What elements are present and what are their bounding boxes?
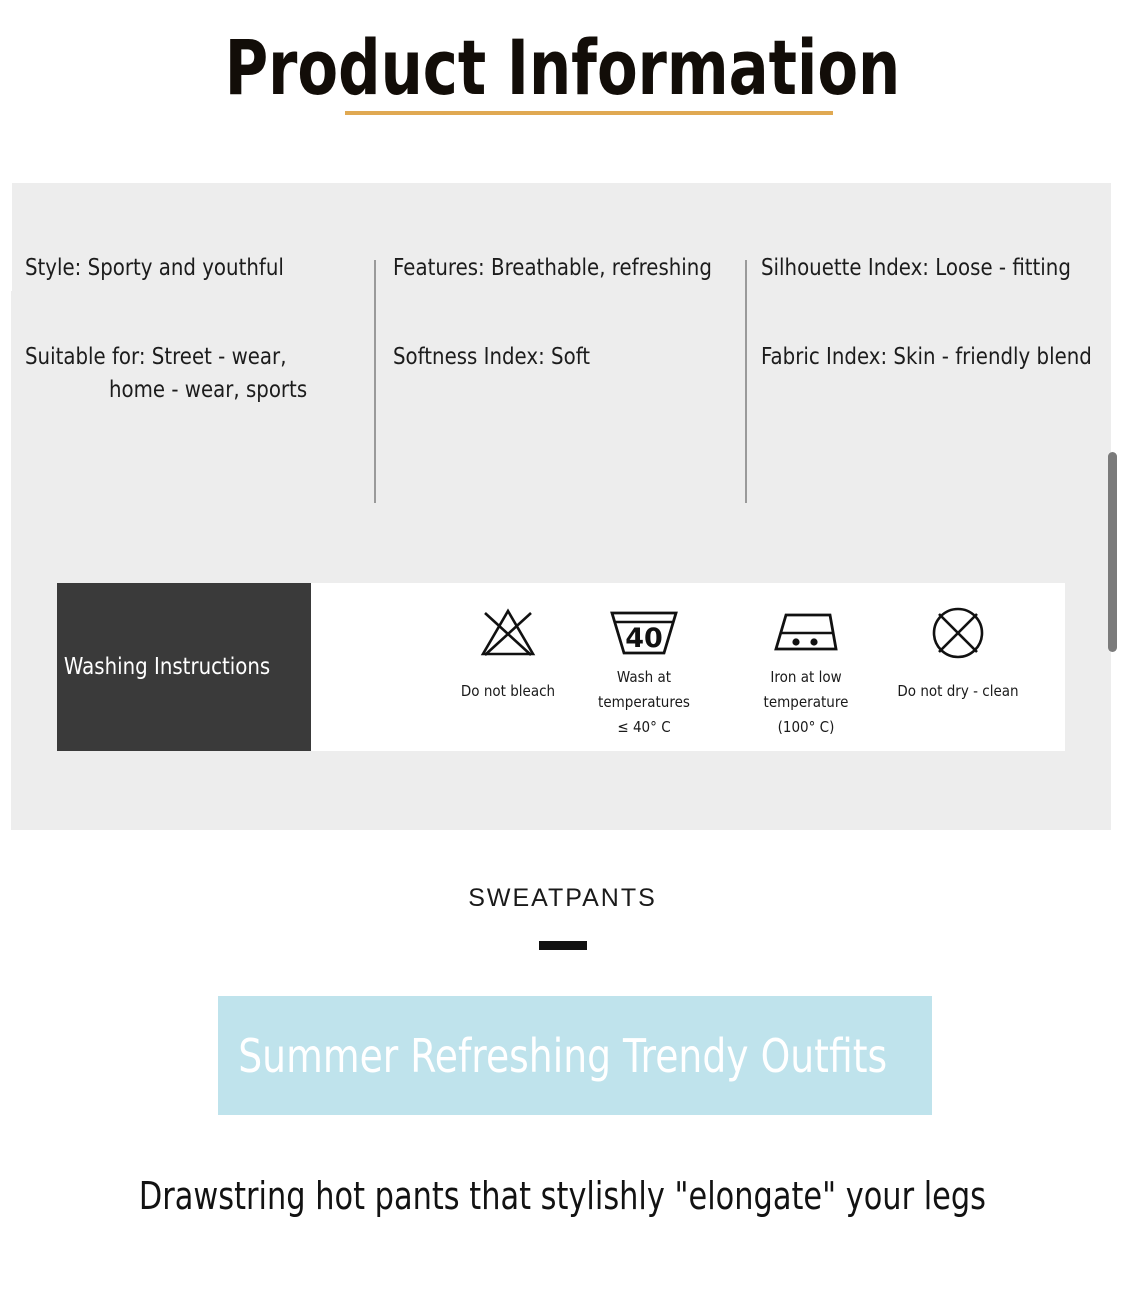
spec-column-1: Style: Sporty and youthful Suitable for:… xyxy=(25,253,370,406)
title-underline-rule xyxy=(345,111,833,115)
spec-suitable-for: Suitable for: Street - wear, xyxy=(25,342,322,372)
spec-features: Features: Breathable, refreshing xyxy=(393,253,698,283)
promo-tagline-wrap: Drawstring hot pants that stylishly "elo… xyxy=(0,1172,1125,1220)
page-title: Product Information xyxy=(124,24,1002,112)
care-symbols-row: Do not bleach 40 Wash at temperatu xyxy=(311,583,1065,751)
spec-grid: Style: Sporty and youthful Suitable for:… xyxy=(11,183,1111,583)
washing-instructions-card: Washing Instructions Do not bleach xyxy=(57,583,1065,751)
category-underline-dash xyxy=(539,941,587,950)
spec-divider-2 xyxy=(745,260,747,503)
promo-banner-background xyxy=(218,996,932,1115)
spec-silhouette-index: Silhouette Index: Loose - fitting xyxy=(761,253,1071,283)
panel-left-notch xyxy=(0,183,12,291)
product-information-page: Product Information Style: Sporty and yo… xyxy=(0,0,1125,1314)
product-category-label: SWEATPANTS xyxy=(0,884,1125,913)
spec-style: Style: Sporty and youthful xyxy=(25,253,322,283)
spec-column-2: Features: Breathable, refreshing Softnes… xyxy=(393,253,748,372)
washing-instructions-label-block: Washing Instructions xyxy=(57,583,311,751)
do-not-dry-clean-captions: Do not dry - clean xyxy=(863,679,1053,704)
page-header: Product Information xyxy=(0,24,1125,112)
promo-tagline: Drawstring hot pants that stylishly "elo… xyxy=(139,1172,986,1220)
vertical-scrollbar-track[interactable] xyxy=(1106,183,1118,830)
do-not-dry-clean-icon xyxy=(863,605,1053,665)
svg-text:40: 40 xyxy=(625,623,663,654)
spec-fabric-index: Fabric Index: Skin - friendly blend xyxy=(761,342,1071,372)
washing-instructions-label: Washing Instructions xyxy=(57,653,270,681)
spec-column-3: Silhouette Index: Loose - fitting Fabric… xyxy=(761,253,1121,372)
care-caption: temperatures xyxy=(559,690,730,715)
care-caption: Do not dry - clean xyxy=(873,679,1044,704)
care-caption: (100° C) xyxy=(721,715,892,740)
spec-divider-1 xyxy=(374,260,376,503)
care-caption: ≤ 40° C xyxy=(559,715,730,740)
care-caption: Wash at xyxy=(559,665,730,690)
spec-softness-index: Softness Index: Soft xyxy=(393,342,698,372)
spec-suitable-for-continuation: home - wear, sports xyxy=(109,374,333,406)
product-info-panel: Style: Sporty and youthful Suitable for:… xyxy=(11,183,1111,830)
care-symbol-do-not-dry-clean: Do not dry - clean xyxy=(863,605,1053,704)
vertical-scrollbar-thumb[interactable] xyxy=(1108,452,1117,652)
